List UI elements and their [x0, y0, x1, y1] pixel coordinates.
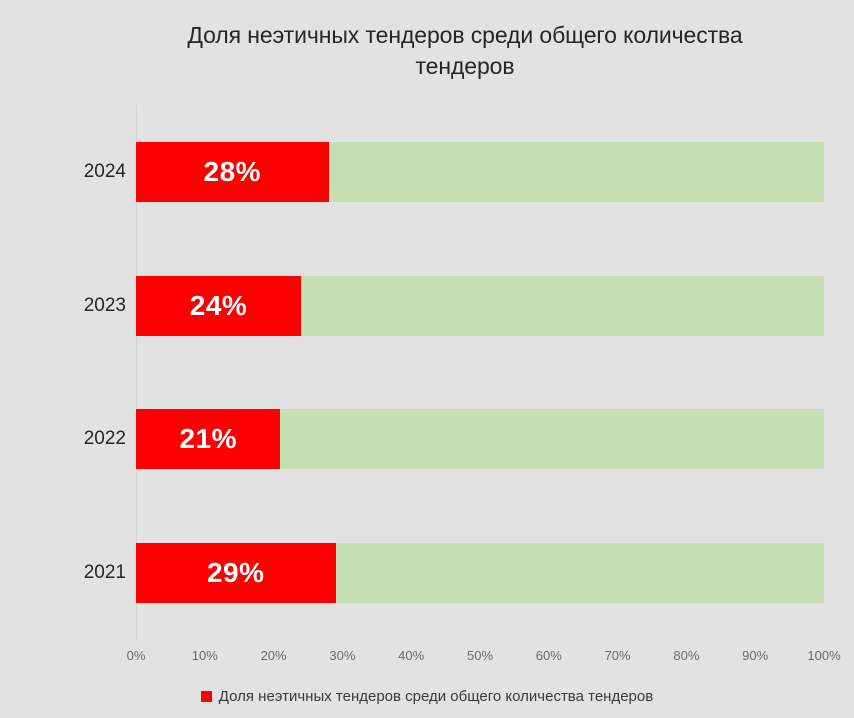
- x-tick-label: 20%: [261, 648, 287, 663]
- x-tick-label: 50%: [467, 648, 493, 663]
- chart-title-line2: тендеров: [140, 51, 790, 82]
- bar-row: 24%: [136, 276, 824, 336]
- bar-track: 21%: [136, 409, 824, 469]
- bar-segment-primary[interactable]: 24%: [136, 276, 301, 336]
- legend-swatch-icon: [201, 691, 212, 702]
- bar-segment-primary[interactable]: 21%: [136, 409, 280, 469]
- x-tick-label: 10%: [192, 648, 218, 663]
- x-tick-label: 100%: [807, 648, 840, 663]
- bar-row: 21%: [136, 409, 824, 469]
- x-tick-label: 90%: [742, 648, 768, 663]
- bar-value-label: 29%: [207, 557, 265, 589]
- bar-track: 28%: [136, 142, 824, 202]
- bar-segment-primary[interactable]: 29%: [136, 543, 336, 603]
- chart-title: Доля неэтичных тендеров среди общего кол…: [140, 20, 790, 51]
- bar-segment-remainder[interactable]: [301, 276, 824, 336]
- bar-row: 28%: [136, 142, 824, 202]
- legend-label: Доля неэтичных тендеров среди общего кол…: [219, 688, 653, 705]
- category-label-2022: 2022: [56, 409, 126, 469]
- bar-segment-remainder[interactable]: [329, 142, 824, 202]
- x-tick-label: 40%: [398, 648, 424, 663]
- bar-value-label: 21%: [179, 423, 237, 455]
- category-label-2023: 2023: [56, 276, 126, 336]
- bar-segment-primary[interactable]: 28%: [136, 142, 329, 202]
- y-axis-category-labels: 2024202320222021: [56, 105, 126, 640]
- category-label-2024: 2024: [56, 142, 126, 202]
- x-tick-label: 30%: [329, 648, 355, 663]
- bar-track: 24%: [136, 276, 824, 336]
- bar-row: 29%: [136, 543, 824, 603]
- x-axis-tick-labels: 0%10%20%30%40%50%60%70%80%90%100%: [136, 648, 824, 670]
- bar-segment-remainder[interactable]: [336, 543, 824, 603]
- chart-legend: Доля неэтичных тендеров среди общего кол…: [0, 688, 854, 705]
- bar-value-label: 24%: [190, 290, 248, 322]
- bar-segment-remainder[interactable]: [280, 409, 824, 469]
- bar-value-label: 28%: [204, 156, 262, 188]
- category-label-2021: 2021: [56, 543, 126, 603]
- x-tick-label: 70%: [605, 648, 631, 663]
- chart-canvas: Доля неэтичных тендеров среди общего кол…: [0, 0, 854, 718]
- x-tick-label: 80%: [673, 648, 699, 663]
- plot-area: 28%24%21%29%: [136, 105, 824, 640]
- x-tick-label: 60%: [536, 648, 562, 663]
- bar-track: 29%: [136, 543, 824, 603]
- x-tick-label: 0%: [127, 648, 146, 663]
